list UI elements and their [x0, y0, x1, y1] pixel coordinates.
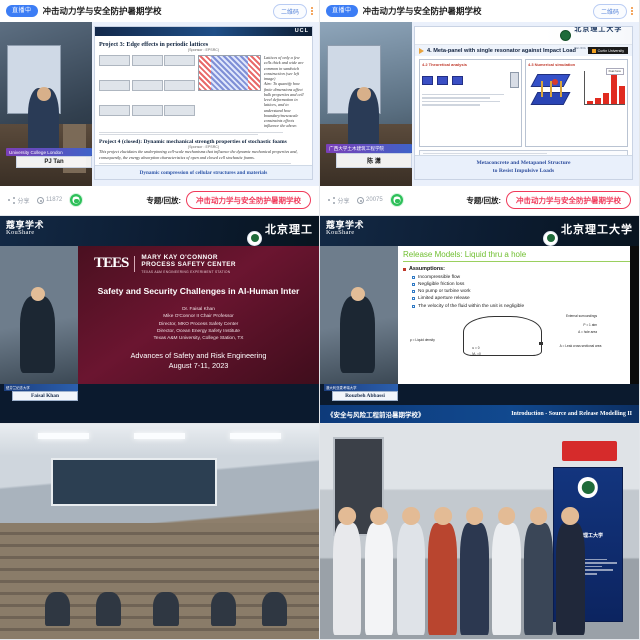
speaker-org: 纽芬兰纪念大学: [4, 384, 78, 391]
speaker-details: Dr. Faisal Khan Mike O'Connor II Chair P…: [78, 306, 319, 343]
topbar-actions: 二维码: [273, 4, 313, 19]
brand-name-en: KouShare: [6, 230, 44, 237]
card-2-topbar: 直播中 冲击动力学与安全防护暑期学校 二维码: [320, 0, 639, 22]
checkbox-icon: [412, 290, 415, 293]
slide-footer-caption: Dynamic compression of cellular structur…: [95, 165, 312, 179]
speaker-line: Director, Ocean Energy Safety Institute: [78, 328, 319, 335]
annotation-area: A = hole area: [578, 330, 597, 334]
classroom-photo: [0, 424, 320, 640]
speaker-line: Director, MKO Process Safety Center: [78, 321, 319, 328]
annotation-p1: P = 1 atm: [583, 323, 597, 327]
simulation-pane: 4.3 Numerical simulation: [525, 59, 628, 147]
center-subtitle: TEXAS A&M ENGINEERING EXPERIMENT STATION: [141, 270, 236, 274]
video-card-2[interactable]: 直播中 冲击动力学与安全防护暑期学校 二维码 北京理工大学 B: [320, 0, 640, 216]
slide-project3-title: Project 3: Edge effects in periodic latt…: [99, 41, 308, 48]
metapanel-3d-model: [528, 70, 581, 110]
slide-footer-bar: 《安全与风险工程前沿暑期学校》 Introduction - Source an…: [320, 405, 639, 423]
speaker-camera-feed: [320, 246, 398, 384]
qrcode-button[interactable]: 二维码: [273, 4, 307, 19]
annotation-cross-section: A = Leak cross sectional area: [560, 344, 602, 348]
video-card-3[interactable]: 蔻享学术 KouShare 北京理工 BEIJING INSTITUTE OF …: [0, 216, 320, 424]
video-card-1[interactable]: 直播中 冲击动力学与安全防护暑期学校 二维码 UCL Project 3: Ed…: [0, 0, 320, 216]
annotation-mass: M₀ =0: [472, 352, 481, 356]
share-label: 分享: [18, 196, 30, 205]
lattice-thumbnails: [99, 55, 195, 129]
list-item: Negligible friction loss: [412, 281, 634, 288]
slide-university-header: 北京理工大学 BEIJING INSTITUTE OF TECHNOLOGY: [415, 27, 632, 45]
center-name-line-1: MARY KAY O'CONNOR: [141, 254, 236, 261]
presentation-slide: TEES MARY KAY O'CONNOR PROCESS SAFETY CE…: [78, 246, 319, 384]
checkbox-icon: [412, 283, 415, 286]
university-name-cn: 北京理工大学: [574, 26, 622, 33]
checkbox-icon: [412, 276, 415, 279]
card-2-metabar: 分享 20075 专题/回放: 冲击动力学与安全防护暑期学校: [320, 186, 639, 214]
slide-project3-sponsor: (Sponsor : EPSRC): [99, 48, 308, 52]
speaker-org: 澳大利亚麦考瑞大学: [324, 384, 398, 391]
qrcode-button[interactable]: 二维码: [593, 4, 627, 19]
university-name-cn: 北京理工大学: [561, 224, 633, 236]
topic-tag[interactable]: 冲击动力学与安全防护暑期学校: [186, 191, 311, 209]
speaker-nameplate: 澳大利亚麦考瑞大学 Rouzbeh Abbassi: [324, 384, 398, 401]
assumptions-label: Assumptions:: [409, 266, 445, 272]
card-1-metabar: 分享 11872 专题/回放: 冲击动力学与安全防护暑期学校: [0, 186, 319, 214]
course-dates: August 7-11, 2023: [169, 361, 229, 370]
lattice-plot: [198, 55, 261, 91]
share-icon: [8, 197, 15, 204]
speaker-name: 陈 潇: [336, 153, 412, 168]
card-3-header: 蔻享学术 KouShare 北京理工 BEIJING INSTITUTE OF: [0, 216, 319, 246]
footer-lecture-title: Introduction - Source and Release Modell…: [511, 411, 632, 417]
share-label: 分享: [338, 196, 350, 205]
view-count: 11872: [37, 197, 63, 204]
brand-name-en: KouShare: [326, 230, 364, 237]
chart-legend: Peak force: [606, 68, 624, 75]
speaker-org: 广西大学土木建筑工程学院: [326, 144, 412, 153]
list-item: Incompressible flow: [412, 274, 634, 281]
slide-title: Safety and Security Challenges in AI-Hum…: [78, 286, 319, 296]
speaker-name: Faisal Khan: [12, 391, 78, 401]
speaker-name: PJ Tan: [16, 156, 92, 168]
live-badge: 直播中: [326, 5, 358, 17]
footer-line-2: to Resist Impulsive Loads: [493, 168, 554, 174]
speaker-name: Rouzbeh Abbassi: [332, 391, 398, 401]
speaker-nameplate: 广西大学土木建筑工程学院 陈 潇: [326, 144, 412, 168]
checkbox-icon: [412, 305, 415, 308]
bit-seal-icon: [578, 477, 598, 497]
arrow-icon: [419, 48, 424, 54]
group-photo: 北京理工大学: [320, 424, 640, 640]
references-block-1: [99, 132, 308, 136]
eye-icon: [37, 197, 44, 204]
live-badge: 直播中: [6, 5, 38, 17]
tees-logo: TEES: [94, 256, 128, 271]
peak-force-bar-chart: Peak force: [584, 71, 625, 105]
speaker-line: Texas A&M University, College Station, T…: [78, 335, 319, 342]
list-item: Limited aperture release: [412, 295, 634, 302]
annotation-external: External surroundings: [566, 314, 597, 318]
topic-label: 专题/回放:: [466, 195, 501, 206]
card-2-video-stage[interactable]: 北京理工大学 BEIJING INSTITUTE OF TECHNOLOGY 4…: [320, 22, 639, 186]
koushare-logo: 蔻享学术 KouShare: [326, 221, 364, 237]
slide-title: Release Models: Liquid thru a hole: [403, 250, 634, 259]
share-action[interactable]: 分享: [8, 196, 30, 205]
slide-bullet-1: Lattices of only a few cells thick and w…: [264, 55, 308, 81]
speaker-camera-feed: [0, 246, 78, 384]
card-4-header: 蔻享学术 KouShare 北京理工大学 BEIJING INSTITUTE O…: [320, 216, 639, 246]
projection-screen: [51, 458, 217, 505]
partner-name: Curtin University: [598, 49, 624, 53]
footer-line-1: Metaconcrete and Metapanel Structure: [476, 160, 570, 166]
tank-release-diagram: External surroundings P = 1 atm A = hole…: [403, 312, 634, 364]
annotation-density: ρ = Liquid density: [410, 338, 435, 342]
equation-block: [422, 94, 519, 106]
resonator-diagram: [422, 72, 519, 88]
topbar-actions: 二维码: [593, 4, 633, 19]
topic-tag[interactable]: 冲击动力学与安全防护暑期学校: [506, 191, 631, 209]
speaker-nameplate: University College London PJ Tan: [6, 148, 92, 168]
more-menu-icon[interactable]: [311, 7, 313, 15]
course-title: Advances of Safety and Risk Engineering: [131, 351, 267, 360]
eye-icon: [357, 197, 364, 204]
theory-pane-title: 4.2 Theoretical analysis: [422, 62, 519, 67]
wechat-icon[interactable]: [69, 193, 83, 207]
card-1-video-stage[interactable]: UCL Project 3: Edge effects in periodic …: [0, 22, 319, 186]
share-action[interactable]: 分享: [328, 196, 350, 205]
share-icon: [328, 197, 335, 204]
center-name-line-2: PROCESS SAFETY CENTER: [141, 261, 236, 268]
more-menu-icon[interactable]: [631, 7, 633, 15]
view-count-value: 20075: [366, 197, 383, 203]
course-info: Advances of Safety and Risk Engineering …: [78, 351, 319, 372]
list-item: No pump or turbine work: [412, 288, 634, 295]
list-item: The velocity of the fluid within the uni…: [412, 303, 634, 310]
card-1-topbar: 直播中 冲击动力学与安全防护暑期学校 二维码: [0, 0, 319, 22]
checkbox-icon: [412, 297, 415, 300]
presentation-slide: UCL Project 3: Edge effects in periodic …: [94, 26, 313, 180]
partner-logo: Curtin University: [588, 47, 628, 54]
speaker-nameplate: 纽芬兰纪念大学 Faisal Khan: [4, 384, 78, 401]
annotation-velocity: u = 0: [472, 346, 479, 350]
ucl-logo: UCL: [295, 28, 309, 34]
theory-pane: 4.2 Theoretical analysis: [419, 59, 522, 147]
slide-project4-text: This project elucidates the underpinning…: [99, 149, 308, 160]
page-title: 冲击动力学与安全防护暑期学校: [43, 5, 162, 17]
red-sign: [562, 441, 616, 460]
wechat-icon[interactable]: [390, 193, 404, 207]
slide-section-header: 4. Meta-panel with single resonator agai…: [415, 45, 632, 56]
topic-label: 专题/回放:: [146, 195, 181, 206]
bit-seal-icon: [560, 30, 571, 41]
bullet-square-icon: [403, 268, 406, 271]
assumptions-list: Incompressible flow Negligible friction …: [412, 274, 634, 310]
footer-series-title: 《安全与风险工程前沿暑期学校》: [327, 409, 425, 419]
speaker-line: Dr. Faisal Khan: [78, 306, 319, 313]
bit-seal-icon: [543, 231, 558, 246]
slide-footer-caption: Metaconcrete and Metapanel Structure to …: [415, 155, 632, 179]
presentation-slide: Release Models: Liquid thru a hole Assum…: [398, 246, 639, 384]
slide-section-title: 4. Meta-panel with single resonator agai…: [427, 48, 576, 54]
ceiling: [0, 424, 319, 456]
presentation-slide: 北京理工大学 BEIJING INSTITUTE OF TECHNOLOGY 4…: [414, 26, 633, 180]
view-count-value: 11872: [46, 197, 62, 203]
bit-seal-icon: [247, 231, 262, 246]
video-card-4[interactable]: 蔻享学术 KouShare 北京理工大学 BEIJING INSTITUTE O…: [320, 216, 640, 424]
screenshot-grid: 直播中 冲击动力学与安全防护暑期学校 二维码 UCL Project 3: Ed…: [0, 0, 640, 640]
speaker-line: Mike O'Connor II Chair Professor: [78, 313, 319, 320]
university-name-cn: 北京理工: [265, 224, 313, 236]
slide-bullet-2: Aim: To quantify how finite dimensions a…: [264, 81, 308, 128]
koushare-logo: 蔻享学术 KouShare: [6, 221, 44, 237]
view-count: 20075: [357, 197, 383, 204]
page-title: 冲击动力学与安全防护暑期学校: [363, 5, 482, 17]
speaker-org: University College London: [6, 148, 92, 156]
tees-branding: TEES MARY KAY O'CONNOR PROCESS SAFETY CE…: [78, 246, 319, 274]
